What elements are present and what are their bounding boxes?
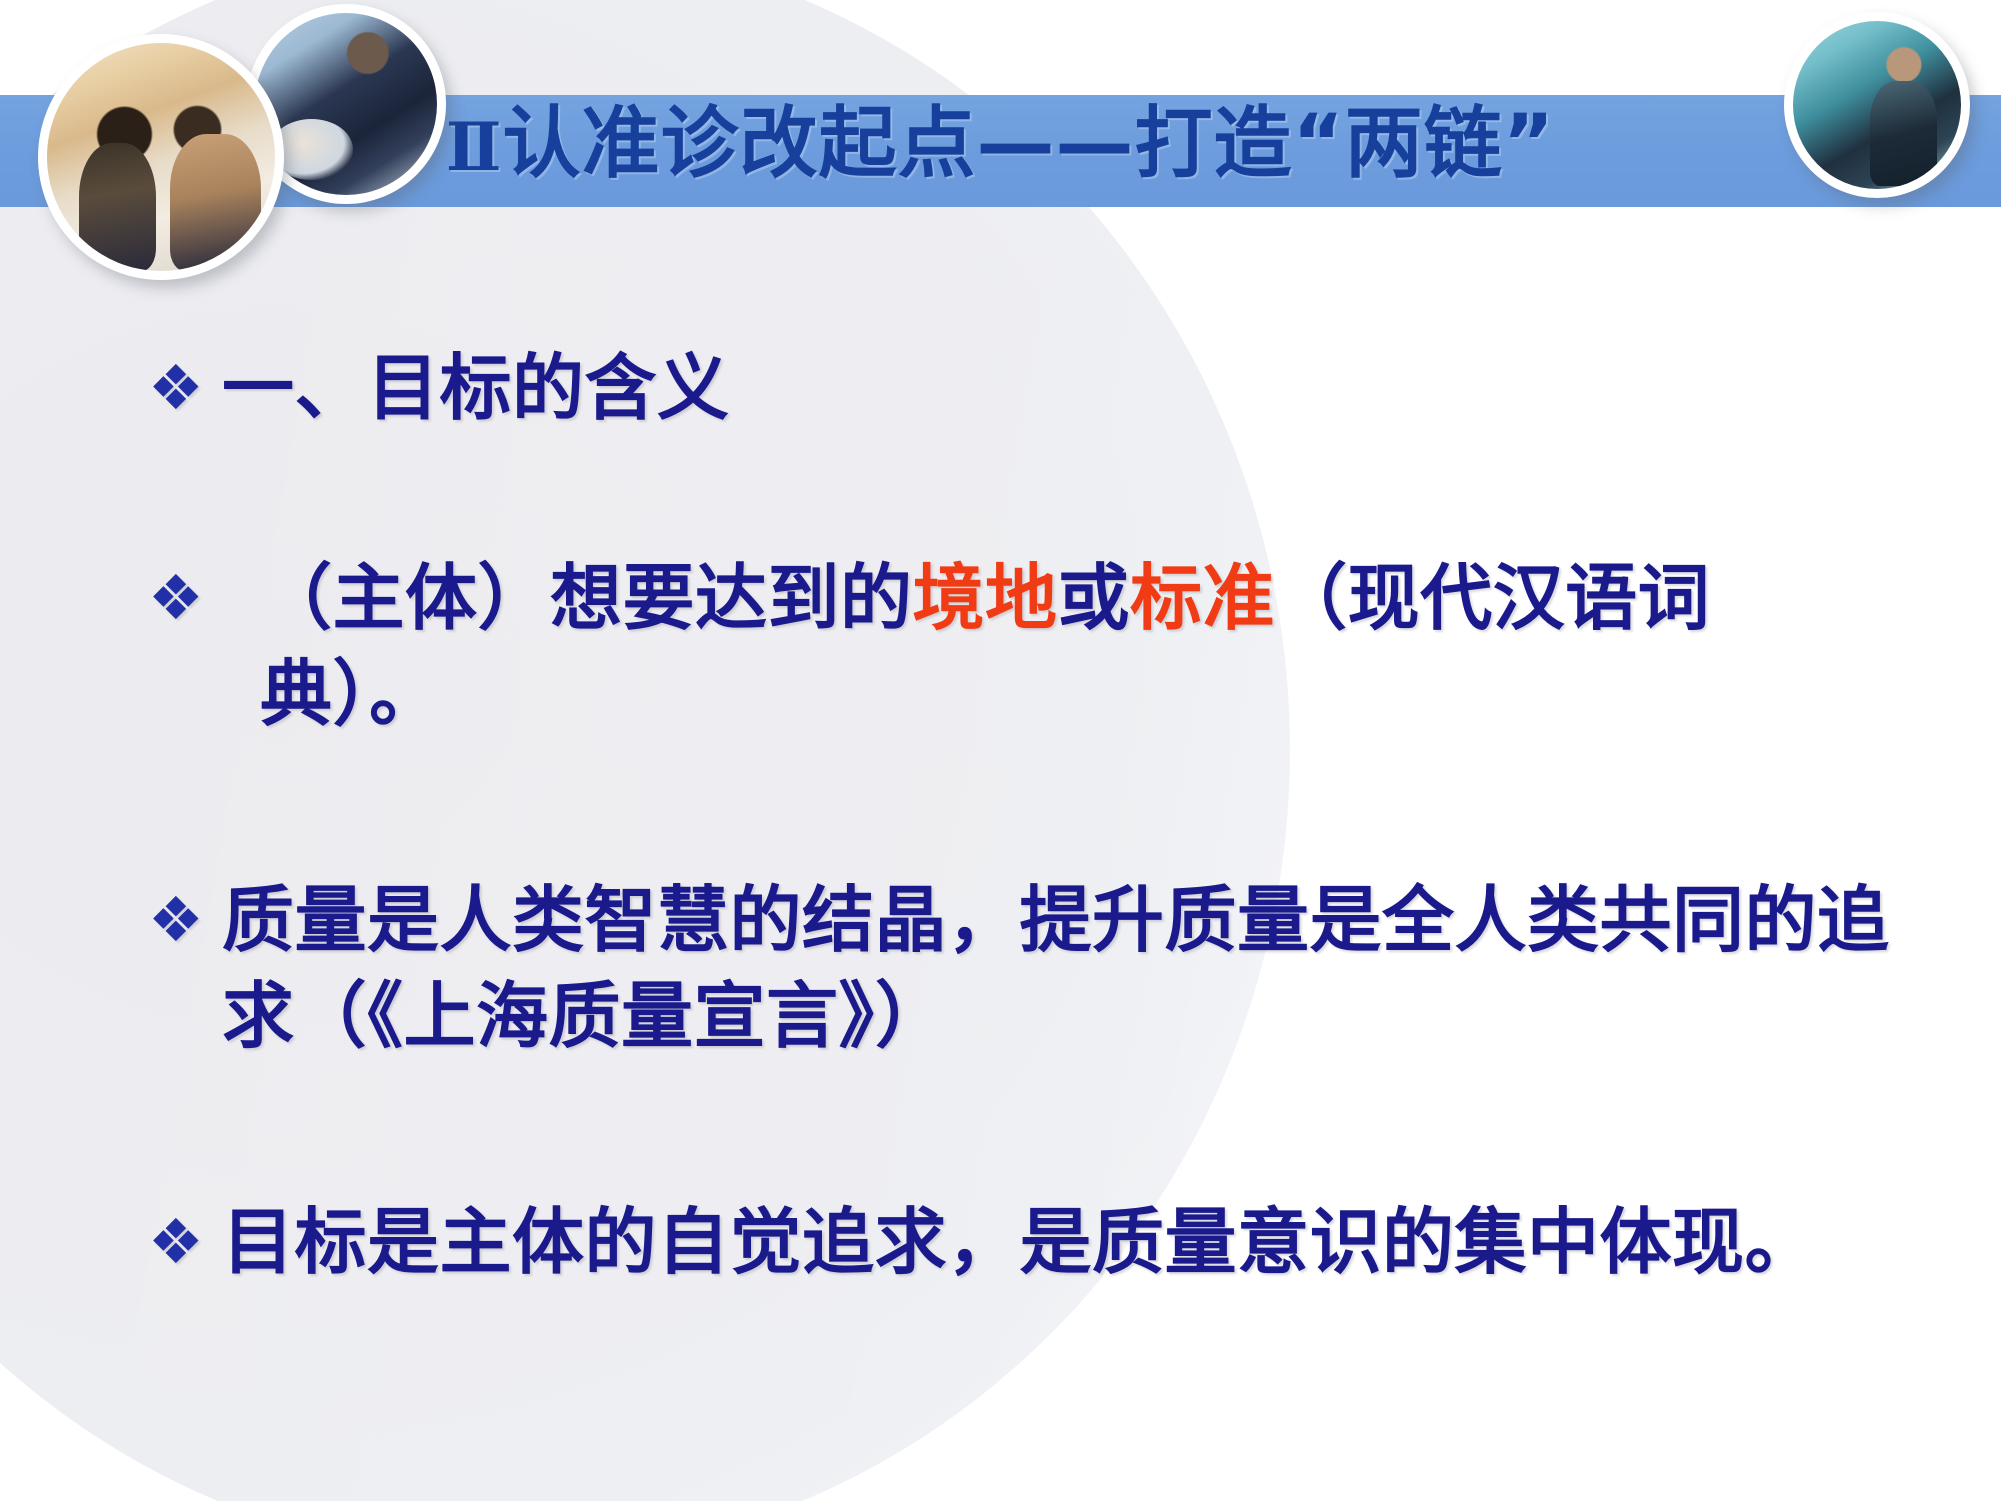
photo-image-c (1793, 21, 1961, 189)
bullet-definition-body: ❖ （主体）想要达到的境地或标准（现代汉语词典）。 (148, 550, 1888, 742)
bullet-goal-awareness-text: 目标是主体的自觉追求，是质量意识的集中体现。 (222, 1194, 1908, 1290)
bullet-goal-awareness: ❖ 目标是主体的自觉追求，是质量意识的集中体现。 (148, 1194, 1908, 1290)
bullet-definition-body-text: （主体）想要达到的境地或标准（现代汉语词典）。 (260, 550, 1888, 742)
photo-image-b (47, 43, 275, 271)
bullet-definition-heading-text: 一、目标的含义 (222, 340, 1248, 436)
segment-highlight-biaozhun: 标准 (1130, 556, 1275, 640)
segment-highlight-jingdi: 境地 (913, 556, 1058, 640)
bullet-quality-declaration: ❖ 质量是人类智慧的结晶，提升质量是全人类共同的追求（《上海质量宣言》） (148, 872, 1908, 1064)
diamond-bullet-icon: ❖ (148, 550, 260, 646)
slide-title-roman-numeral: Ⅱ (446, 108, 503, 186)
circular-photo-man-at-desk (1784, 12, 1970, 198)
segment-plain-1: （主体）想要达到的 (260, 556, 913, 640)
diamond-bullet-icon: ❖ (148, 1194, 222, 1290)
diamond-bullet-icon: ❖ (148, 872, 222, 968)
slide-title-main: 认准诊改起点——打造“两链” (503, 99, 1556, 189)
circular-photo-two-men-at-laptop (38, 34, 284, 280)
bullet-quality-declaration-text: 质量是人类智慧的结晶，提升质量是全人类共同的追求（《上海质量宣言》） (222, 872, 1908, 1064)
segment-plain-2: 或 (1058, 556, 1131, 640)
diamond-bullet-icon: ❖ (148, 340, 222, 436)
bullet-definition-heading: ❖ 一、目标的含义 (148, 340, 1248, 436)
slide-body: ❖ 一、目标的含义 ❖ （主体）想要达到的境地或标准（现代汉语词典）。 ❖ 质量… (0, 232, 2001, 1501)
presentation-slide: Ⅱ认准诊改起点——打造“两链” ❖ 一、目标的含义 ❖ （主体）想要达到的境地或… (0, 0, 2001, 1501)
